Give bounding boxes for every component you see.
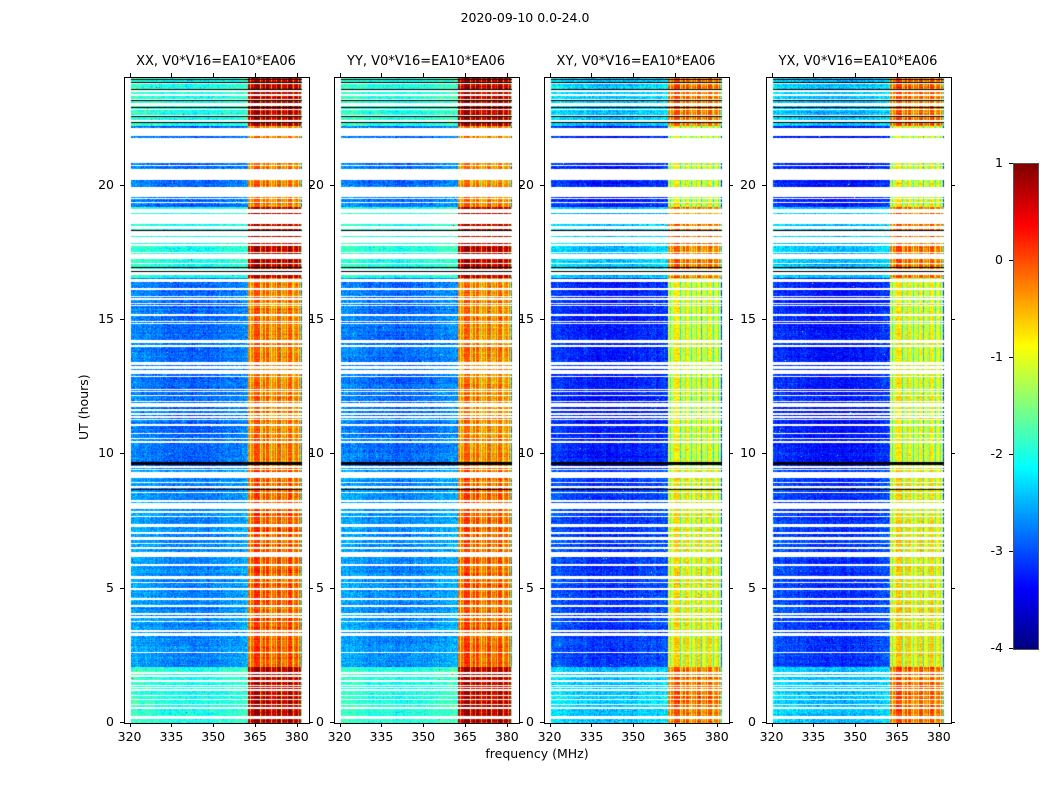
waterfall-image-yx: [766, 77, 952, 724]
x-tick-label: 365: [233, 729, 277, 744]
y-tick-label: 5: [726, 580, 756, 595]
x-tick-label: 380: [695, 729, 739, 744]
y-tick-label: 20: [726, 177, 756, 192]
x-tick: [675, 723, 676, 727]
waterfall-canvas: [335, 78, 519, 723]
y-tick-label: 5: [504, 580, 534, 595]
y-tick: [120, 722, 124, 723]
y-tick-right: [951, 319, 955, 320]
x-tick: [255, 723, 256, 727]
colorbar-tick: [1009, 357, 1013, 358]
x-tick: [813, 723, 814, 727]
x-tick-label: 335: [569, 729, 613, 744]
colorbar-tick: [1009, 551, 1013, 552]
y-tick-label: 10: [294, 445, 324, 460]
x-tick: [213, 723, 214, 727]
x-tick-label: 335: [791, 729, 835, 744]
x-tick-top: [171, 73, 172, 77]
y-tick: [540, 722, 544, 723]
y-tick: [330, 588, 334, 589]
x-tick-top: [423, 73, 424, 77]
colorbar-tick: [1009, 163, 1013, 164]
y-tick-label: 0: [84, 714, 114, 729]
colorbar-tick-label: -4: [973, 640, 1003, 655]
subplot-xx: XX, V0*V16=EA10*EA0632033535036538005101…: [124, 77, 308, 722]
colorbar-tick: [1009, 648, 1013, 649]
y-tick: [120, 453, 124, 454]
subplot-title-xx: XX, V0*V16=EA10*EA06: [94, 54, 338, 69]
colorbar-tick-label: -2: [973, 446, 1003, 461]
y-tick-label: 15: [84, 311, 114, 326]
waterfall-canvas: [545, 78, 729, 723]
y-tick: [762, 722, 766, 723]
y-tick: [540, 185, 544, 186]
y-tick-right: [951, 588, 955, 589]
subplot-yx: YX, V0*V16=EA10*EA0632033535036538005101…: [766, 77, 950, 722]
waterfall-canvas: [767, 78, 951, 723]
colorbar-gradient: [1013, 163, 1039, 650]
y-tick: [120, 588, 124, 589]
y-tick-label: 15: [726, 311, 756, 326]
x-tick-label: 365: [653, 729, 697, 744]
colorbar-tick: [1009, 454, 1013, 455]
x-tick-top: [255, 73, 256, 77]
x-tick-label: 350: [611, 729, 655, 744]
y-tick-label: 20: [504, 177, 534, 192]
x-tick-label: 380: [917, 729, 961, 744]
y-tick: [540, 588, 544, 589]
x-tick-label: 335: [359, 729, 403, 744]
x-tick-top: [855, 73, 856, 77]
x-tick-top: [939, 73, 940, 77]
x-tick-label: 320: [108, 729, 152, 744]
x-tick-label: 350: [833, 729, 877, 744]
x-tick: [423, 723, 424, 727]
colorbar-tick-label: -3: [973, 543, 1003, 558]
y-tick-label: 10: [726, 445, 756, 460]
x-tick: [772, 723, 773, 727]
x-tick: [340, 723, 341, 727]
x-tick-top: [507, 73, 508, 77]
y-tick: [762, 588, 766, 589]
x-tick-label: 350: [401, 729, 445, 744]
x-tick-label: 380: [485, 729, 529, 744]
colorbar-tick-label: 0: [973, 252, 1003, 267]
x-tick-label: 320: [318, 729, 362, 744]
x-tick-top: [213, 73, 214, 77]
x-tick: [897, 723, 898, 727]
x-tick: [855, 723, 856, 727]
y-tick-label: 10: [504, 445, 534, 460]
x-tick: [550, 723, 551, 727]
y-tick-label: 20: [84, 177, 114, 192]
colorbar: 10-1-2-3-4 log10 amplitude: [1013, 163, 1037, 648]
y-tick: [330, 722, 334, 723]
y-tick-label: 5: [294, 580, 324, 595]
x-tick-label: 350: [191, 729, 235, 744]
x-tick-top: [550, 73, 551, 77]
waterfall-image-xx: [124, 77, 310, 724]
subplot-title-yx: YX, V0*V16=EA10*EA06: [736, 54, 980, 69]
subplot-xy: XY, V0*V16=EA10*EA0632033535036538005101…: [544, 77, 728, 722]
x-tick-top: [897, 73, 898, 77]
y-tick-right: [951, 185, 955, 186]
y-tick: [330, 319, 334, 320]
y-tick-label: 0: [726, 714, 756, 729]
x-tick-label: 320: [528, 729, 572, 744]
y-tick: [540, 319, 544, 320]
x-tick-top: [772, 73, 773, 77]
matplotlib-figure: 2020-09-10 0.0-24.0 XX, V0*V16=EA10*EA06…: [0, 0, 1050, 800]
subplot-title-xy: XY, V0*V16=EA10*EA06: [514, 54, 758, 69]
y-tick-label: 5: [84, 580, 114, 595]
x-tick: [171, 723, 172, 727]
waterfall-image-yy: [334, 77, 520, 724]
y-tick: [330, 185, 334, 186]
x-tick-top: [717, 73, 718, 77]
y-tick: [762, 185, 766, 186]
x-tick-label: 335: [149, 729, 193, 744]
y-tick: [762, 319, 766, 320]
x-tick: [130, 723, 131, 727]
x-tick: [591, 723, 592, 727]
y-tick: [762, 453, 766, 454]
x-tick: [633, 723, 634, 727]
colorbar-tick: [1009, 260, 1013, 261]
x-tick-top: [381, 73, 382, 77]
x-tick-label: 320: [750, 729, 794, 744]
waterfall-image-xy: [544, 77, 730, 724]
y-tick-right: [951, 722, 955, 723]
x-tick-top: [675, 73, 676, 77]
colorbar-tick-label: 1: [973, 155, 1003, 170]
y-tick-label: 20: [294, 177, 324, 192]
x-tick-top: [340, 73, 341, 77]
x-tick: [465, 723, 466, 727]
y-tick: [120, 319, 124, 320]
waterfall-canvas: [125, 78, 309, 723]
x-axis-label: frequency (MHz): [387, 746, 687, 761]
y-tick-right: [951, 453, 955, 454]
subplot-yy: YY, V0*V16=EA10*EA0632033535036538005101…: [334, 77, 518, 722]
y-tick: [120, 185, 124, 186]
subplot-title-yy: YY, V0*V16=EA10*EA06: [304, 54, 548, 69]
x-tick-top: [591, 73, 592, 77]
x-tick-top: [130, 73, 131, 77]
y-tick: [540, 453, 544, 454]
y-axis-label: UT (hours): [76, 374, 91, 440]
x-tick: [717, 723, 718, 727]
y-tick-label: 15: [294, 311, 324, 326]
y-tick-label: 15: [504, 311, 534, 326]
figure-suptitle: 2020-09-10 0.0-24.0: [0, 10, 1050, 25]
x-tick-label: 365: [875, 729, 919, 744]
x-tick: [381, 723, 382, 727]
x-tick-top: [633, 73, 634, 77]
y-tick-label: 0: [294, 714, 324, 729]
colorbar-tick-label: -1: [973, 349, 1003, 364]
y-tick-label: 10: [84, 445, 114, 460]
x-tick: [939, 723, 940, 727]
y-tick-label: 0: [504, 714, 534, 729]
x-tick-top: [297, 73, 298, 77]
x-tick-top: [465, 73, 466, 77]
x-tick-label: 365: [443, 729, 487, 744]
x-tick-label: 380: [275, 729, 319, 744]
y-tick: [330, 453, 334, 454]
x-tick-top: [813, 73, 814, 77]
